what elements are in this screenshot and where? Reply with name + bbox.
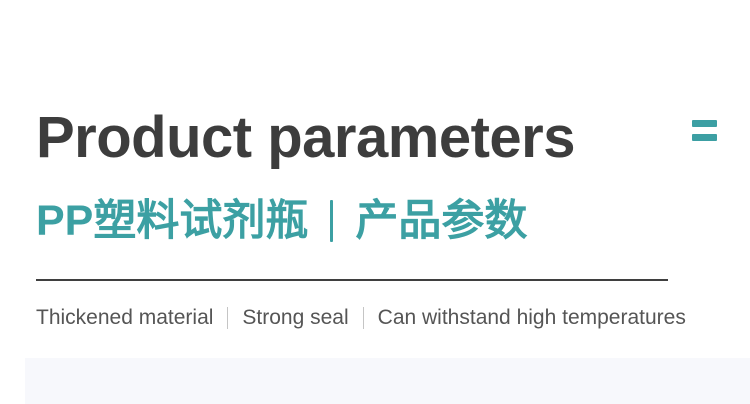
chinese-title-row: PP塑料试剂瓶 产品参数 xyxy=(36,192,527,250)
feature-item-high-temperatures: Can withstand high temperatures xyxy=(378,304,686,332)
feature-item-thickened-material: Thickened material xyxy=(36,304,213,332)
equals-mark-bar-bottom xyxy=(692,134,717,141)
horizontal-divider xyxy=(36,279,668,281)
chinese-title-primary: PP塑料试剂瓶 xyxy=(36,192,308,250)
heading-row: Product parameters xyxy=(36,100,726,176)
chinese-title-separator xyxy=(330,200,333,242)
feature-item-strong-seal: Strong seal xyxy=(242,304,348,332)
chinese-title-secondary: 产品参数 xyxy=(355,192,527,250)
feature-separator-1 xyxy=(227,307,228,329)
product-parameters-banner: Product parameters PP塑料试剂瓶 产品参数 Thickene… xyxy=(0,0,750,404)
bottom-band xyxy=(25,358,750,404)
feature-separator-2 xyxy=(363,307,364,329)
page-title: Product parameters xyxy=(36,100,726,176)
equals-mark-icon xyxy=(692,120,717,141)
equals-mark-bar-top xyxy=(692,120,717,127)
feature-list: Thickened material Strong seal Can withs… xyxy=(36,304,686,332)
